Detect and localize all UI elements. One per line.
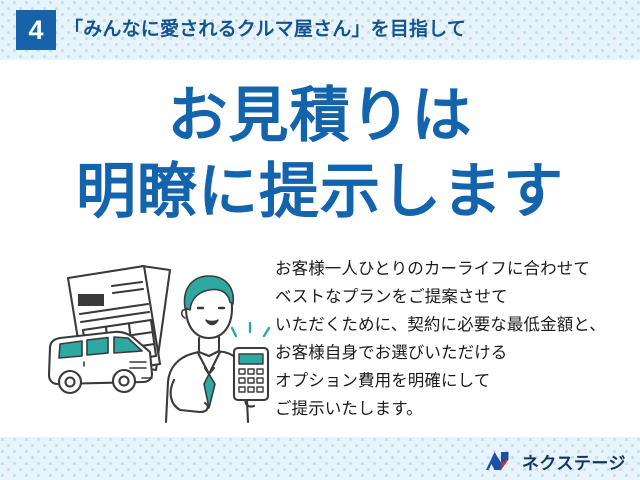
body-line: お客様自身でお選びいただける xyxy=(275,339,635,367)
sparkle-icon xyxy=(232,323,269,336)
body-copy: お客様一人ひとりのカーライフに合わせて ベストなプランをご提案させて いただくた… xyxy=(275,255,635,423)
body-line: ご提示いたします。 xyxy=(275,395,635,423)
headline: お見積りは 明瞭に提示します xyxy=(0,78,640,230)
calculator-illustration xyxy=(234,348,268,400)
advertisement-banner: 4 「みんなに愛されるクルマ屋さん」を目指して お見積りは 明瞭に提示します xyxy=(0,0,640,480)
brand-name: ネクステージ xyxy=(522,449,626,474)
sales-illustration xyxy=(38,252,276,424)
illustration-svg xyxy=(38,252,276,424)
body-line: オプション費用を明確にして xyxy=(275,367,635,395)
brand-logo: ネクステージ xyxy=(485,449,626,473)
body-line: お客様一人ひとりのカーライフに合わせて xyxy=(275,255,635,283)
nextage-n-mark-icon xyxy=(485,451,515,471)
header-title: 「みんなに愛されるクルマ屋さん」を目指して xyxy=(64,12,466,48)
step-number-badge: 4 xyxy=(16,10,56,50)
body-line: いただくために、契約に必要な最低金額と、 xyxy=(275,311,635,339)
headline-line-1: お見積りは xyxy=(0,78,640,154)
headline-line-2: 明瞭に提示します xyxy=(0,154,640,230)
body-line: ベストなプランをご提案させて xyxy=(275,283,635,311)
van-illustration xyxy=(49,332,152,393)
